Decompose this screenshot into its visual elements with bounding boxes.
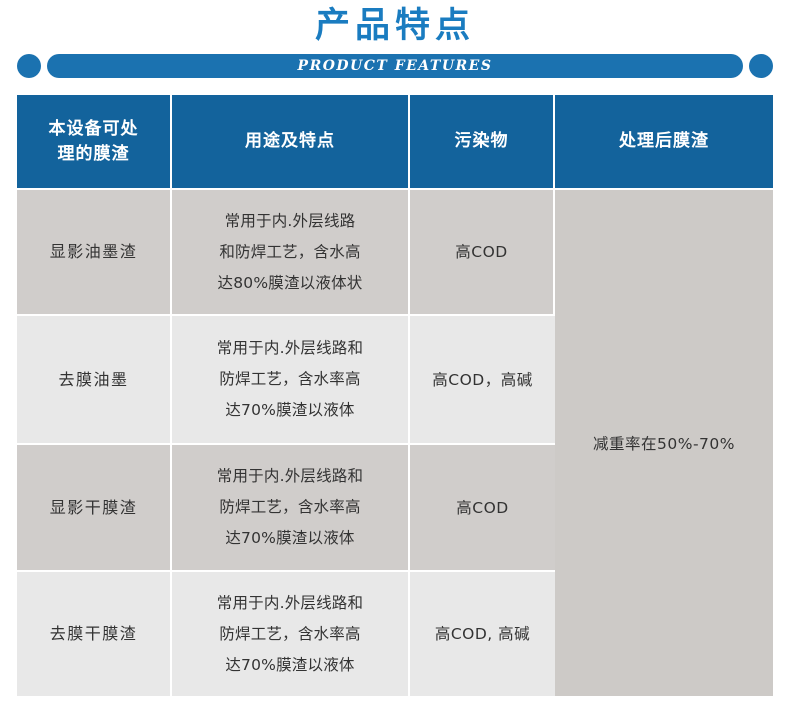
cell-usage-features: 常用于内.外层线路和 防焊工艺，含水率高 达70%膜渣以液体 (172, 570, 410, 696)
page-header: 产品特点 PRODUCT FEATURES (0, 0, 790, 88)
cell-pollutant: 高COD, 高碱 (410, 570, 555, 696)
features-table: 本设备可处 理的膜渣 用途及特点 污染物 处理后膜渣 显影油墨渣 常用于内.外层… (17, 95, 773, 696)
desc-line: 常用于内.外层线路和 (172, 461, 408, 492)
desc-line: 达70%膜渣以液体 (172, 650, 408, 681)
table-header-row: 本设备可处 理的膜渣 用途及特点 污染物 处理后膜渣 (17, 95, 773, 188)
column-header-line-2: 理的膜渣 (17, 142, 170, 167)
desc-line: 防焊工艺，含水率高 (172, 492, 408, 523)
cell-waste-type: 去膜油墨 (17, 314, 172, 443)
desc-line: 和防焊工艺，含水高 (172, 237, 408, 268)
subtitle-banner: PRODUCT FEATURES (17, 54, 773, 78)
desc-line: 防焊工艺，含水率高 (172, 364, 408, 395)
banner-dot-right-icon (749, 54, 773, 78)
column-header-line-1: 污染物 (410, 129, 553, 154)
cell-waste-type: 去膜干膜渣 (17, 570, 172, 696)
cell-usage-features: 常用于内.外层线路 和防焊工艺，含水高 达80%膜渣以液体状 (172, 188, 410, 314)
cell-usage-features: 常用于内.外层线路和 防焊工艺，含水率高 达70%膜渣以液体 (172, 443, 410, 570)
column-header-usage-features: 用途及特点 (172, 95, 410, 188)
page-title: 产品特点 (0, 4, 790, 48)
cell-pollutant: 高COD，高碱 (410, 314, 555, 443)
desc-line: 达80%膜渣以液体状 (172, 268, 408, 299)
cell-waste-type: 显影油墨渣 (17, 188, 172, 314)
product-features-page: 产品特点 PRODUCT FEATURES 本设备可处 理的膜渣 用途及特点 (0, 0, 790, 703)
banner-dot-left-icon (17, 54, 41, 78)
cell-pollutant: 高COD (410, 188, 555, 314)
desc-line: 常用于内.外层线路和 (172, 588, 408, 619)
column-header-treated-result: 处理后膜渣 (555, 95, 773, 188)
banner-bar: PRODUCT FEATURES (47, 54, 743, 78)
desc-line: 常用于内.外层线路和 (172, 333, 408, 364)
cell-pollutant: 高COD (410, 443, 555, 570)
cell-waste-type: 显影干膜渣 (17, 443, 172, 570)
column-header-waste-type: 本设备可处 理的膜渣 (17, 95, 172, 188)
cell-usage-features: 常用于内.外层线路和 防焊工艺，含水率高 达70%膜渣以液体 (172, 314, 410, 443)
table-row: 显影油墨渣 常用于内.外层线路 和防焊工艺，含水高 达80%膜渣以液体状 高CO… (17, 188, 773, 314)
column-header-line-1: 用途及特点 (172, 129, 408, 154)
desc-line: 常用于内.外层线路 (172, 206, 408, 237)
desc-line: 达70%膜渣以液体 (172, 523, 408, 554)
cell-treated-result: 减重率在50%-70% (555, 188, 773, 696)
desc-line: 防焊工艺，含水率高 (172, 619, 408, 650)
column-header-line-1: 本设备可处 (17, 117, 170, 142)
page-subtitle: PRODUCT FEATURES (47, 54, 743, 78)
desc-line: 达70%膜渣以液体 (172, 395, 408, 426)
column-header-line-1: 处理后膜渣 (555, 129, 773, 154)
column-header-pollutant: 污染物 (410, 95, 555, 188)
